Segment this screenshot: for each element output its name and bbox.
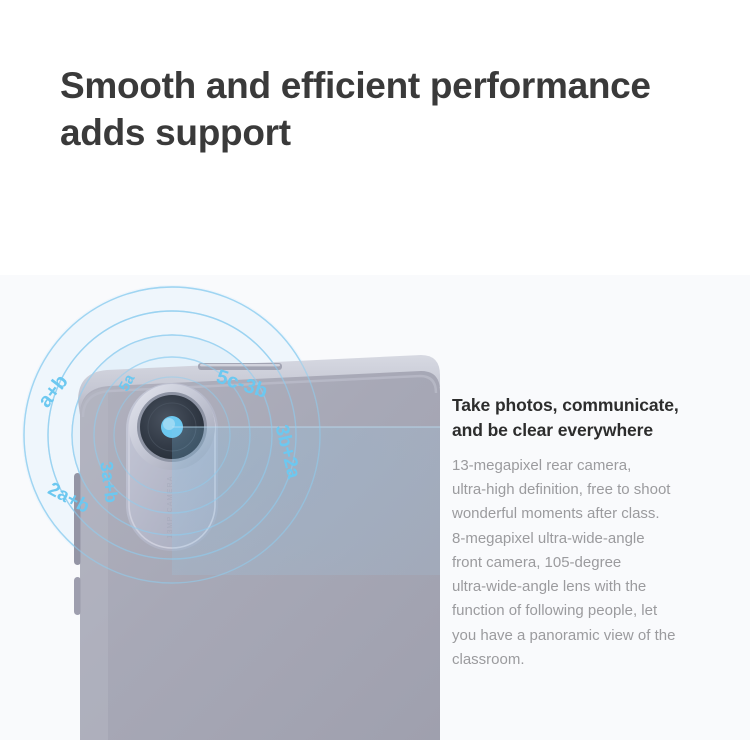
page-title-line-2: adds support [60,109,720,156]
feature-heading-line-2: and be clear everywhere [452,418,738,443]
feature-description: 13-megapixel rear camera, ultra-high def… [452,454,738,673]
feature-description-line-5: front camera, 105-degree [452,551,738,575]
side-button-lower [74,577,81,615]
feature-description-line-4: 8-megapixel ultra-wide-angle [452,527,738,551]
feature-description-line-7: function of following people, let [452,599,738,623]
feature-heading: Take photos, communicate, and be clear e… [452,393,738,443]
feature-description-line-3: wonderful moments after class. [452,502,738,526]
feature-heading-line-1: Take photos, communicate, [452,393,738,418]
feature-description-line-2: ultra-high definition, free to shoot [452,478,738,502]
feature-band: 13MP CAMERA a+b [0,275,750,740]
promo-page: Smooth and efficient performance adds su… [0,0,750,750]
feature-description-line-6: ultra-wide-angle lens with the [452,575,738,599]
page-title-line-1: Smooth and efficient performance [60,62,720,109]
feature-copy: Take photos, communicate, and be clear e… [452,393,738,672]
feature-description-line-8: you have a panoramic view of the [452,624,738,648]
page-title: Smooth and efficient performance adds su… [60,62,720,157]
antenna-bar-highlight [200,364,280,366]
device-illustration: 13MP CAMERA a+b [0,275,440,740]
feature-description-line-1: 13-megapixel rear camera, [452,454,738,478]
feature-description-line-9: classroom. [452,648,738,672]
